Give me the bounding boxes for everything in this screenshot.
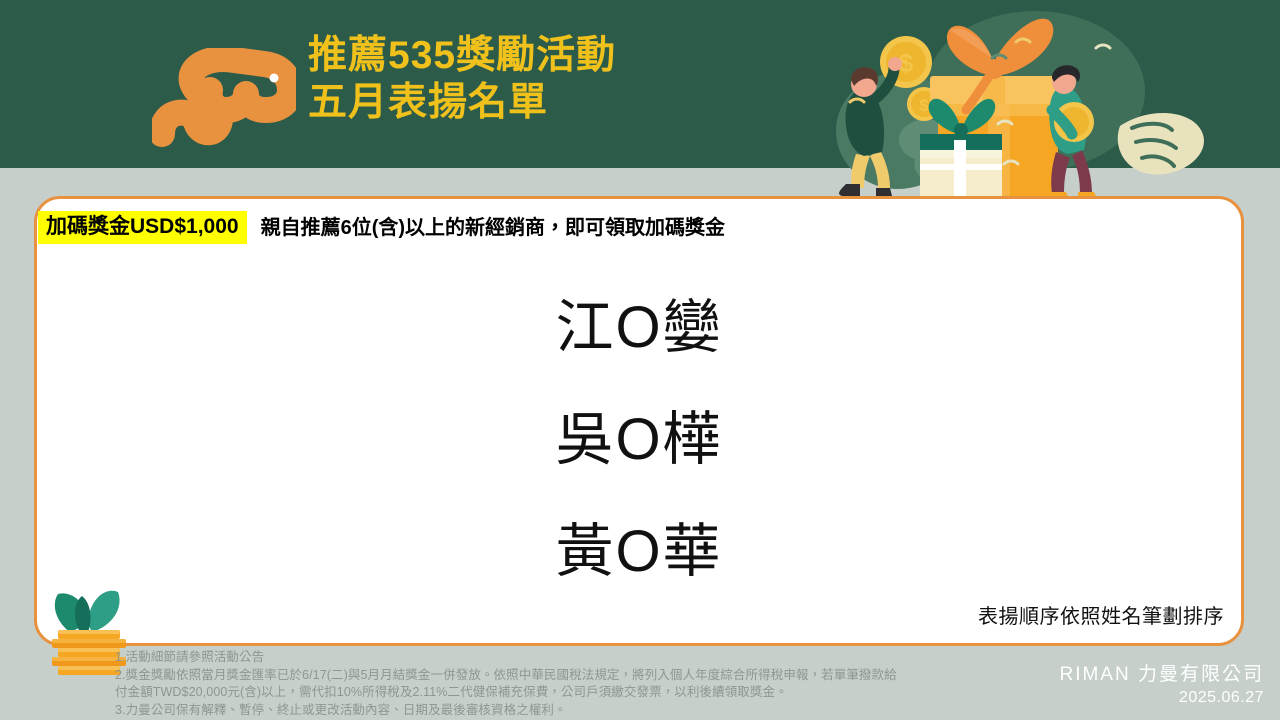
footnote-line: 3.力曼公司保有解釋、暫停、終止或更改活動內容、日期及最後審核資格之權利。 — [115, 702, 1015, 720]
awardee-name: 黃O華 — [34, 496, 1244, 608]
sort-order-note: 表揚順序依照姓名筆劃排序 — [978, 600, 1224, 629]
snake-logo — [152, 48, 296, 152]
company-name: RIMAN 力曼有限公司 — [1059, 664, 1264, 686]
slide-root: 推薦535獎勵活動 五月表揚名單 $ $ — [0, 0, 1280, 720]
svg-text:$: $ — [919, 96, 929, 115]
title-line-2: 五月表揚名單 — [308, 79, 828, 126]
bonus-headline: 加碼獎金USD$1,000 親自推薦6位(含)以上的新經銷商，即可領取加碼獎金 — [38, 211, 725, 244]
gift-box-celebration-illustration: $ $ — [820, 6, 1220, 196]
footnotes: 1.活動細節請參照活動公告 2.獎金獎勵依照當月獎金匯率已於6/17(二)與5月… — [115, 649, 1015, 719]
footnote-line: 2.獎金獎勵依照當月獎金匯率已於6/17(二)與5月月結獎金一併發放。依照中華民… — [115, 667, 1015, 685]
title-line-1: 推薦535獎勵活動 — [308, 32, 828, 79]
bonus-condition-text: 親自推薦6位(含)以上的新經銷商，即可領取加碼獎金 — [261, 216, 725, 240]
company-mark: RIMAN 力曼有限公司 2025.06.27 — [1059, 664, 1264, 708]
footnote-line: 付金額TWD$20,000元(含)以上，需代扣10%所得稅及2.11%二代健保補… — [115, 684, 1015, 702]
bonus-amount-badge: 加碼獎金USD$1,000 — [38, 211, 247, 244]
awardee-name-list: 江O孌 吳O樺 黃O華 — [34, 272, 1244, 608]
footnote-line: 1.活動細節請參照活動公告 — [115, 649, 1015, 667]
page-title: 推薦535獎勵活動 五月表揚名單 — [308, 32, 828, 126]
publish-date: 2025.06.27 — [1059, 688, 1264, 708]
awardee-name: 江O孌 — [34, 272, 1244, 384]
awardee-name: 吳O樺 — [34, 384, 1244, 496]
